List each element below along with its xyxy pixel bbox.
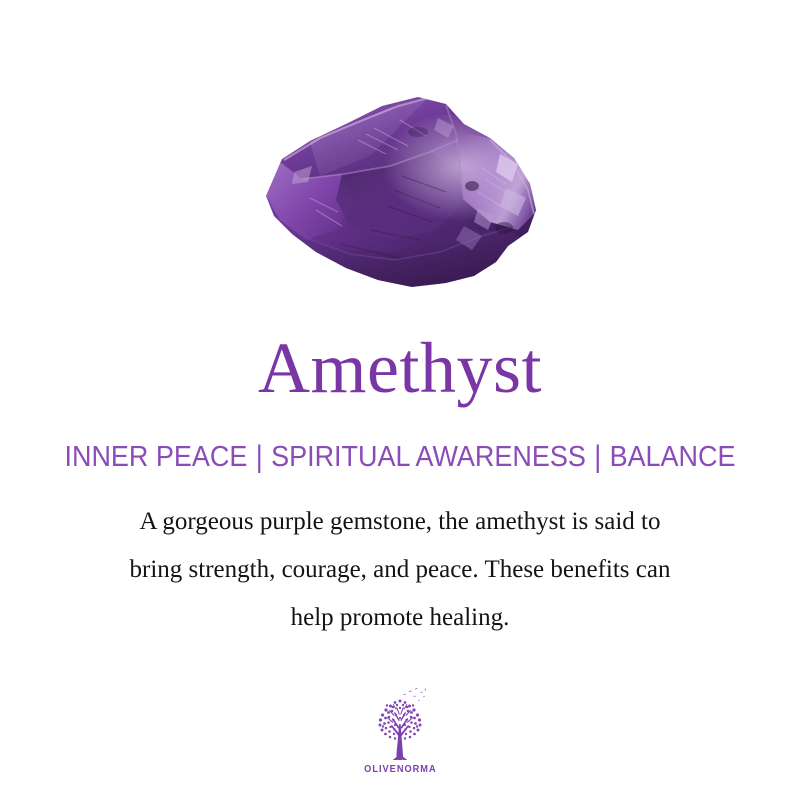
keyword-spiritual-awareness: SPIRITUAL AWARENESS — [271, 440, 586, 475]
keyword-separator: | — [586, 439, 610, 476]
keyword-separator: | — [247, 439, 271, 476]
keyword-balance: BALANCE — [610, 440, 736, 475]
description-text: A gorgeous purple gemstone, the amethyst… — [60, 498, 740, 642]
description-line: help promote healing. — [60, 594, 740, 642]
birds-icon — [404, 688, 426, 701]
amethyst-info-card: Amethyst INNER PEACE|SPIRITUAL AWARENESS… — [0, 0, 800, 800]
brand-logo: OLIVENORMA — [0, 684, 800, 775]
description-line: A gorgeous purple gemstone, the amethyst… — [60, 498, 740, 546]
page-title: Amethyst — [0, 332, 800, 404]
gemstone-hero — [0, 70, 800, 305]
description-line: bring strength, courage, and peace. Thes… — [60, 546, 740, 594]
keyword-inner-peace: INNER PEACE — [64, 440, 247, 475]
keyword-list: INNER PEACE|SPIRITUAL AWARENESS|BALANCE — [28, 440, 772, 475]
amethyst-crystal-image — [250, 80, 550, 295]
tree-of-life-icon — [359, 684, 441, 762]
brand-name: OLIVENORMA — [364, 764, 436, 775]
amethyst-crystal-illustration — [250, 80, 550, 295]
